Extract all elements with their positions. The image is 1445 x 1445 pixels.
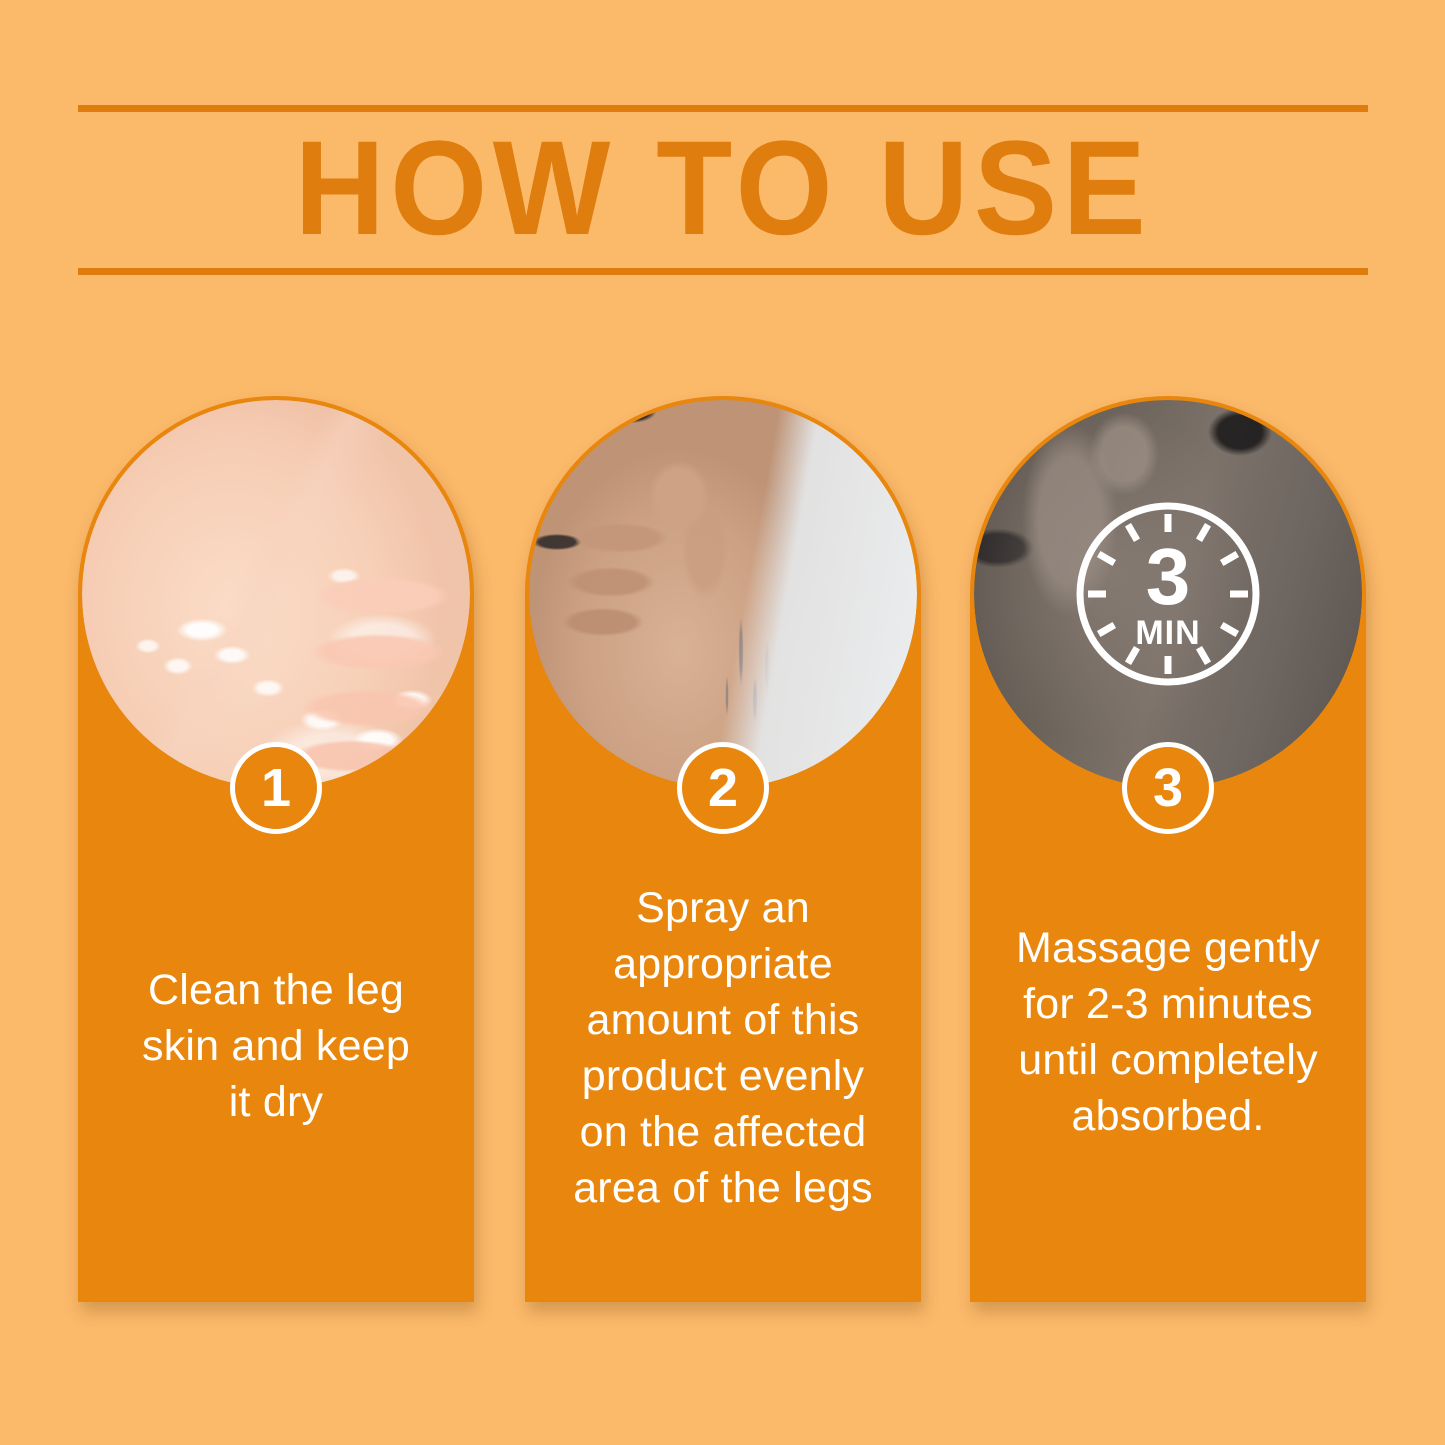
step-3-caption: Massage gently for 2-3 minutes until com… [994, 920, 1342, 1144]
clock-unit: MIN [1135, 614, 1200, 652]
step-card-3: 3 MIN 3 Massage gently for 2-3 minutes u… [970, 396, 1366, 1302]
step-3-photo: 3 MIN [974, 400, 1362, 788]
hand-on-leg-with-veins-image [529, 400, 917, 788]
step-3-number-badge: 3 [1122, 742, 1214, 834]
step-2-number-badge: 2 [677, 742, 769, 834]
step-card-1: 1 Clean the leg skin and keep it dry [78, 396, 474, 1302]
title-rule-top [78, 105, 1368, 112]
page-title: HOW TO USE [123, 112, 1323, 268]
title-rule-bottom [78, 268, 1368, 275]
step-card-2: 2 Spray an appropriate amount of this pr… [525, 396, 921, 1302]
step-2-caption: Spray an appropriate amount of this prod… [549, 880, 897, 1216]
page-header: HOW TO USE [78, 105, 1368, 275]
soapy-skin-washing-image [82, 400, 470, 788]
clock-icon: 3 MIN [1070, 496, 1266, 692]
steps-container: 1 Clean the leg skin and keep it dry 2 S… [0, 396, 1445, 1316]
clock-value: 3 [1146, 532, 1191, 621]
step-2-photo [529, 400, 917, 788]
step-1-photo [82, 400, 470, 788]
step-1-number-badge: 1 [230, 742, 322, 834]
step-1-caption: Clean the leg skin and keep it dry [102, 962, 450, 1130]
